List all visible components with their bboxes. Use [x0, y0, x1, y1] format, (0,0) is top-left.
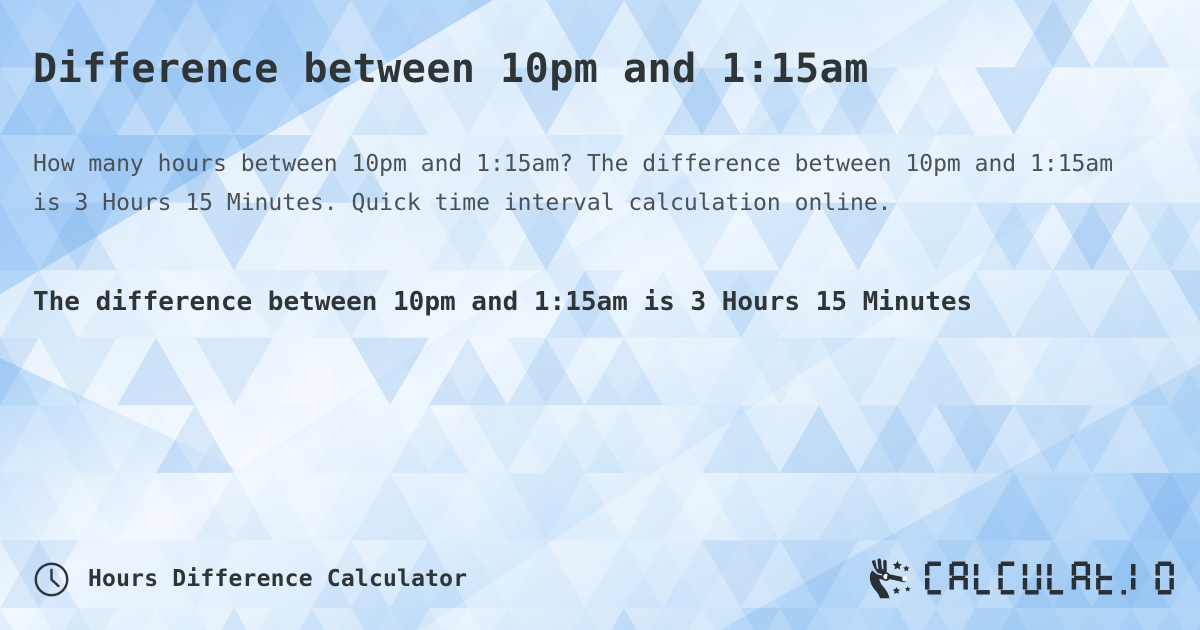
footer-calculator-link[interactable]: Hours Difference Calculator [33, 561, 467, 598]
brand-logo[interactable] [866, 557, 1180, 601]
clock-icon [33, 561, 70, 598]
brand-wordmark [925, 559, 1180, 599]
page-title: Difference between 10pm and 1:15am [33, 46, 1167, 93]
magic-wand-hand-icon [866, 557, 918, 601]
footer: Hours Difference Calculator [33, 554, 1180, 604]
footer-label: Hours Difference Calculator [88, 566, 467, 592]
og-card: Difference between 10pm and 1:15am How m… [0, 0, 1200, 630]
answer-statement: The difference between 10pm and 1:15am i… [33, 280, 1093, 325]
page-description: How many hours between 10pm and 1:15am? … [33, 145, 1143, 223]
